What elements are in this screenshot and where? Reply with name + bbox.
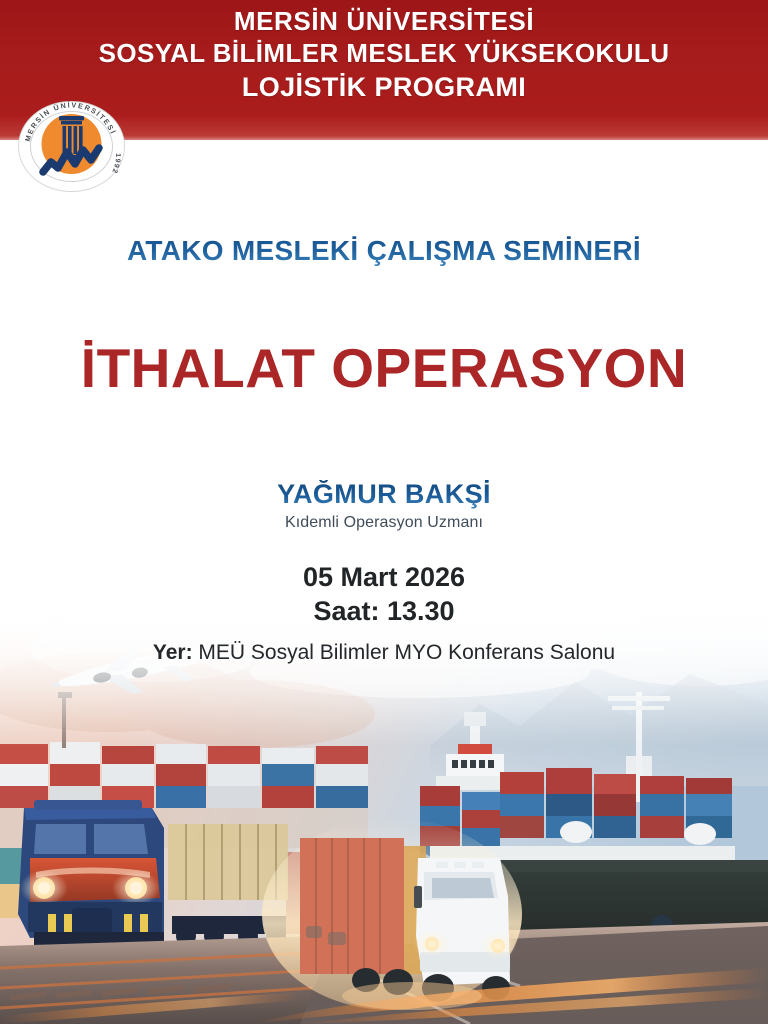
page-title: İTHALAT OPERASYON — [0, 341, 768, 396]
poster-content: ATAKO MESLEKİ ÇALIŞMA SEMİNERİ İTHALAT O… — [0, 140, 768, 665]
event-location-label: Yer: — [153, 641, 199, 664]
event-location-value: MEÜ Sosyal Bilimler MYO Konferans Salonu — [198, 641, 615, 664]
event-poster: MERSİN ÜNİVERSİTESİ SOSYAL BİLİMLER MESL… — [0, 0, 768, 1024]
event-location: Yer: MEÜ Sosyal Bilimler MYO Konferans S… — [0, 641, 768, 665]
university-seal-logo: MERSİN ÜNİVERSİTESİ 1992 — [17, 100, 126, 193]
event-time: Saat: 13.30 — [0, 595, 768, 629]
speaker-role: Kıdemli Operasyon Uzmanı — [0, 514, 768, 532]
speaker-name: YAĞMUR BAKŞİ — [0, 480, 768, 510]
header-text-block: MERSİN ÜNİVERSİTESİ SOSYAL BİLİMLER MESL… — [0, 6, 768, 104]
event-date: 05 Mart 2026 — [0, 561, 768, 595]
seminar-title: ATAKO MESLEKİ ÇALIŞMA SEMİNERİ — [0, 235, 768, 267]
header-line-university: MERSİN ÜNİVERSİTESİ — [0, 6, 768, 36]
header-line-faculty: SOSYAL BİLİMLER MESLEK YÜKSEKOKULU — [0, 38, 768, 68]
